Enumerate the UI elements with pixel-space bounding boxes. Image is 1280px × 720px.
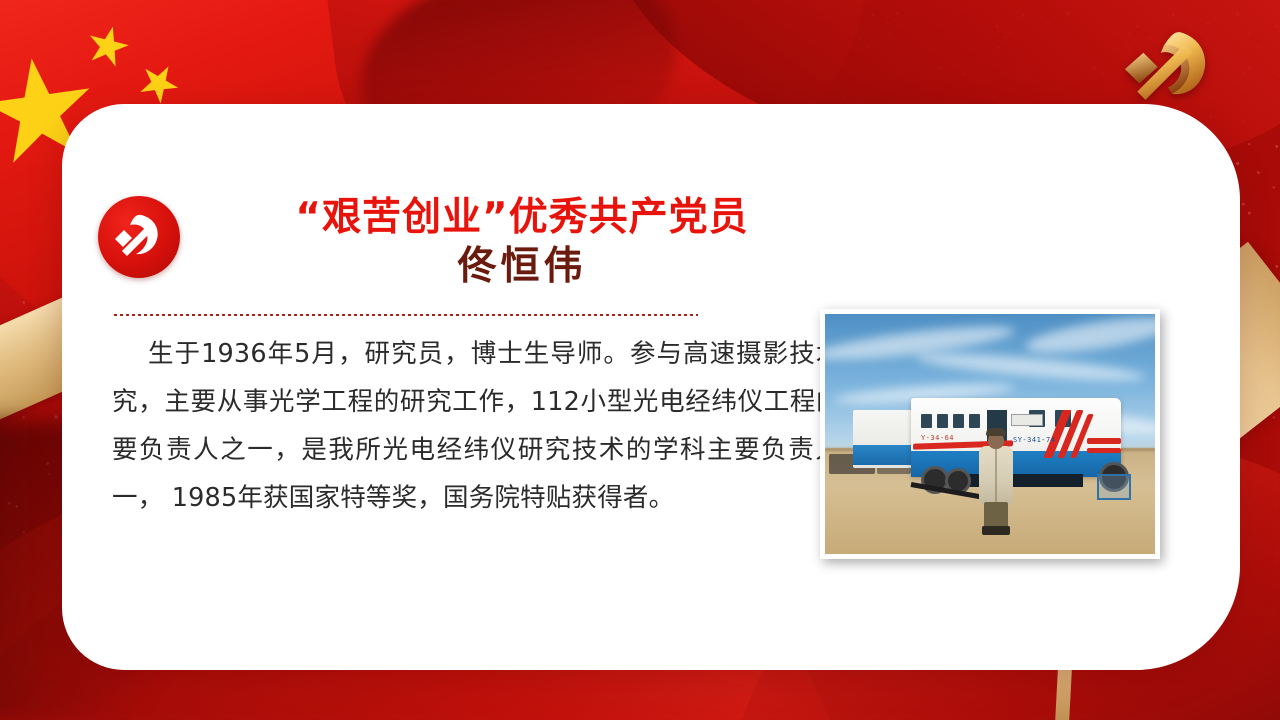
trailer-code-left: Y-34-64 [921,434,954,442]
page-title: “艰苦创业”优秀共产党员 [202,196,842,240]
dotted-divider [114,314,698,316]
cloud-wisp [915,348,1146,386]
photo-desert-trailer: SY-341-74 Y-34-64 [825,314,1155,554]
photo-frame: SY-341-74 Y-34-64 [820,309,1160,559]
person-figure [975,426,1017,536]
person-coat-seam [995,448,997,502]
person-name: 佟恒伟 [202,244,842,288]
trailer-window [953,414,964,428]
trailer-window [937,414,948,428]
biography-text: 生于1936年5月，研究员，博士生导师。参与高速摄影技术研究，主要从事光学工程的… [112,330,868,522]
hammer-sickle-icon [98,196,180,278]
content-card: “艰苦创业”优秀共产党员 佟恒伟 生于1936年5月，研究员，博士生导师。参与高… [62,104,1240,670]
trailer-red-stripe [1087,438,1121,444]
trailer-window [921,414,932,428]
person-legs [984,502,1008,528]
trailer-code-right: SY-341-74 [1013,436,1055,444]
cloud-wisp [1024,314,1155,360]
gold-hammer-sickle-icon [1116,24,1220,106]
slide-canvas: “艰苦创业”优秀共产党员 佟恒伟 生于1936年5月，研究员，博士生导师。参与高… [0,0,1280,720]
stabilizer-jack [1097,474,1131,500]
person-hat [986,428,1006,436]
trailer-placard [1011,414,1043,426]
title-block: “艰苦创业”优秀共产党员 佟恒伟 [202,196,842,289]
person-boots [982,526,1010,535]
trailer-red-stripe [1087,448,1121,453]
